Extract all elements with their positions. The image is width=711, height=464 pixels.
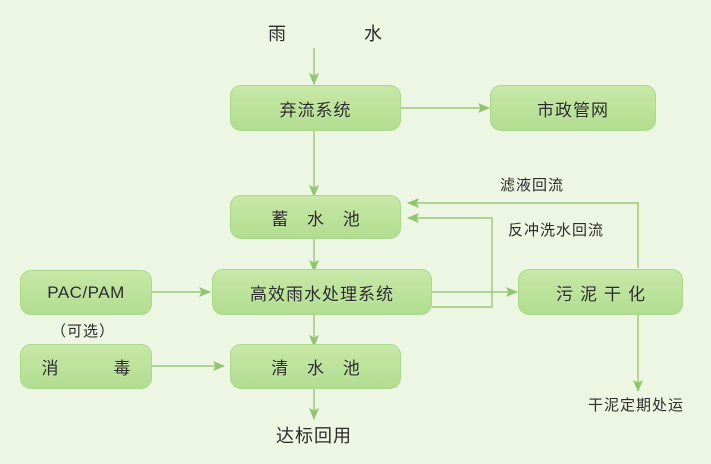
node-treatment-system[interactable]: 高效雨水处理系统 bbox=[212, 269, 432, 315]
node-storage-tank[interactable]: 蓄 水 池 bbox=[230, 195, 401, 239]
node-diversion-system[interactable]: 弃流系统 bbox=[230, 85, 401, 131]
label-dry-sludge-disposal: 干泥定期处运 bbox=[588, 394, 684, 415]
node-clean-water-tank[interactable]: 清 水 池 bbox=[230, 344, 401, 389]
node-disinfection[interactable]: 消 毒 bbox=[20, 344, 152, 389]
node-sludge-drying[interactable]: 污泥干化 bbox=[518, 269, 683, 315]
label-rainwater-inlet: 雨 水 bbox=[268, 20, 396, 46]
node-pac-pam[interactable]: PAC/PAM bbox=[20, 270, 152, 315]
node-municipal-network[interactable]: 市政管网 bbox=[490, 85, 656, 131]
flowchart-canvas: 雨 水 弃流系统 市政管网 蓄 水 池 滤液回流 反冲洗水回流 PAC/PAM … bbox=[0, 0, 711, 464]
label-pac-pam-optional: （可选） bbox=[51, 320, 115, 341]
label-compliant-reuse: 达标回用 bbox=[276, 422, 352, 448]
label-filtrate-return: 滤液回流 bbox=[500, 174, 564, 195]
label-backwash-return: 反冲洗水回流 bbox=[508, 219, 604, 240]
